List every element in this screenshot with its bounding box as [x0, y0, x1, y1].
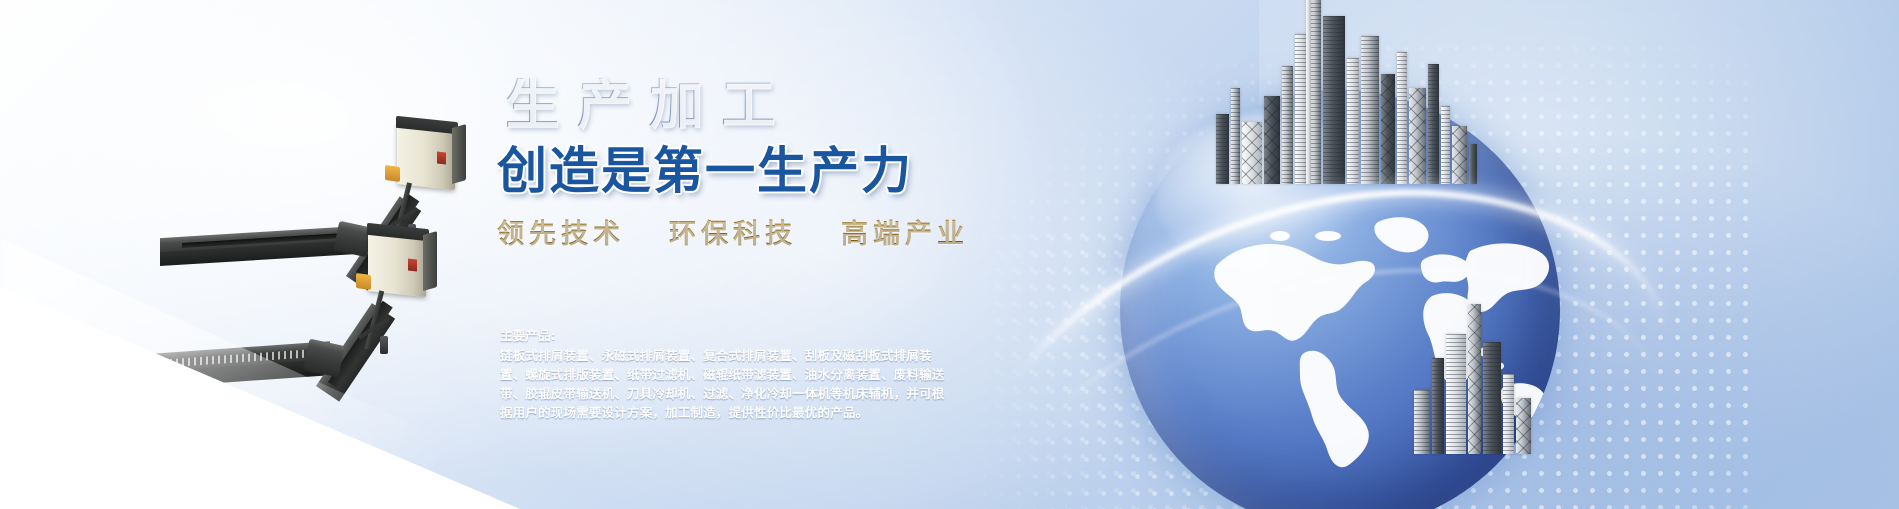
keyword-list: 领先技术 环保科技 高端产业: [497, 212, 1057, 251]
keyword-item: 高端产业: [841, 212, 969, 251]
promo-banner: 生产加工 创造是第一生产力 领先技术 环保科技 高端产业 主要产品: 链板式排屑…: [0, 0, 1899, 509]
product-description-lead: 主要产品:: [500, 326, 945, 345]
page-subtitle: 创造是第一生产力: [497, 146, 1057, 196]
product-description: 主要产品: 链板式排屑装置、永磁式排屑装置、复合式排屑装置、刮板及磁刮板式排屑装…: [500, 326, 945, 422]
globe-graphic: [1060, 0, 1620, 509]
headline-group: 生产加工 创造是第一生产力 领先技术 环保科技 高端产业: [497, 78, 1057, 251]
keyword-item: 环保科技: [669, 212, 797, 251]
keyword-item: 领先技术: [497, 212, 625, 251]
page-title: 生产加工: [497, 78, 1057, 132]
city-skyline-secondary-graphic: [1410, 224, 1620, 454]
product-description-body: 链板式排屑装置、永磁式排屑装置、复合式排屑装置、刮板及磁刮板式排屑装置、螺旋式排…: [500, 348, 945, 420]
city-skyline-graphic: [1210, 0, 1510, 184]
